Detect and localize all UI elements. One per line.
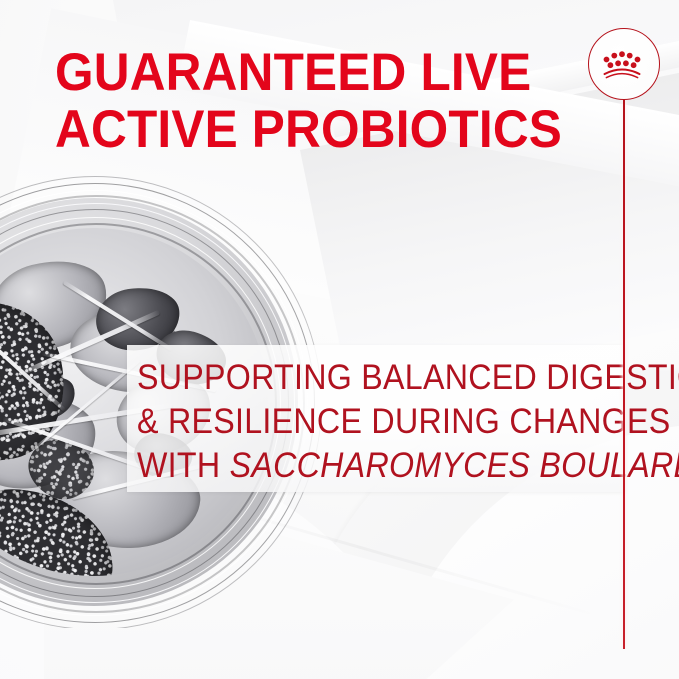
subheadline-species-name: SACCHAROMYCES BOULARDII [230,446,679,485]
subheadline: SUPPORTING BALANCED DIGESTION & RESILIEN… [137,356,597,488]
subheadline-line-3: WITH SACCHAROMYCES BOULARDII [137,444,597,488]
subheadline-line-3-prefix: WITH [137,446,230,485]
product-feature-banner: GUARANTEED LIVE ACTIVE PROBIOTICS SUPPOR… [0,0,679,679]
logo-vertical-rule [623,96,625,649]
brand-logo-badge [588,28,660,100]
crown-icon [589,29,655,95]
subheadline-line-2: & RESILIENCE DURING CHANGES [137,400,597,444]
page-title: GUARANTEED LIVE ACTIVE PROBIOTICS [55,44,579,158]
subheadline-line-1: SUPPORTING BALANCED DIGESTION [137,356,597,400]
